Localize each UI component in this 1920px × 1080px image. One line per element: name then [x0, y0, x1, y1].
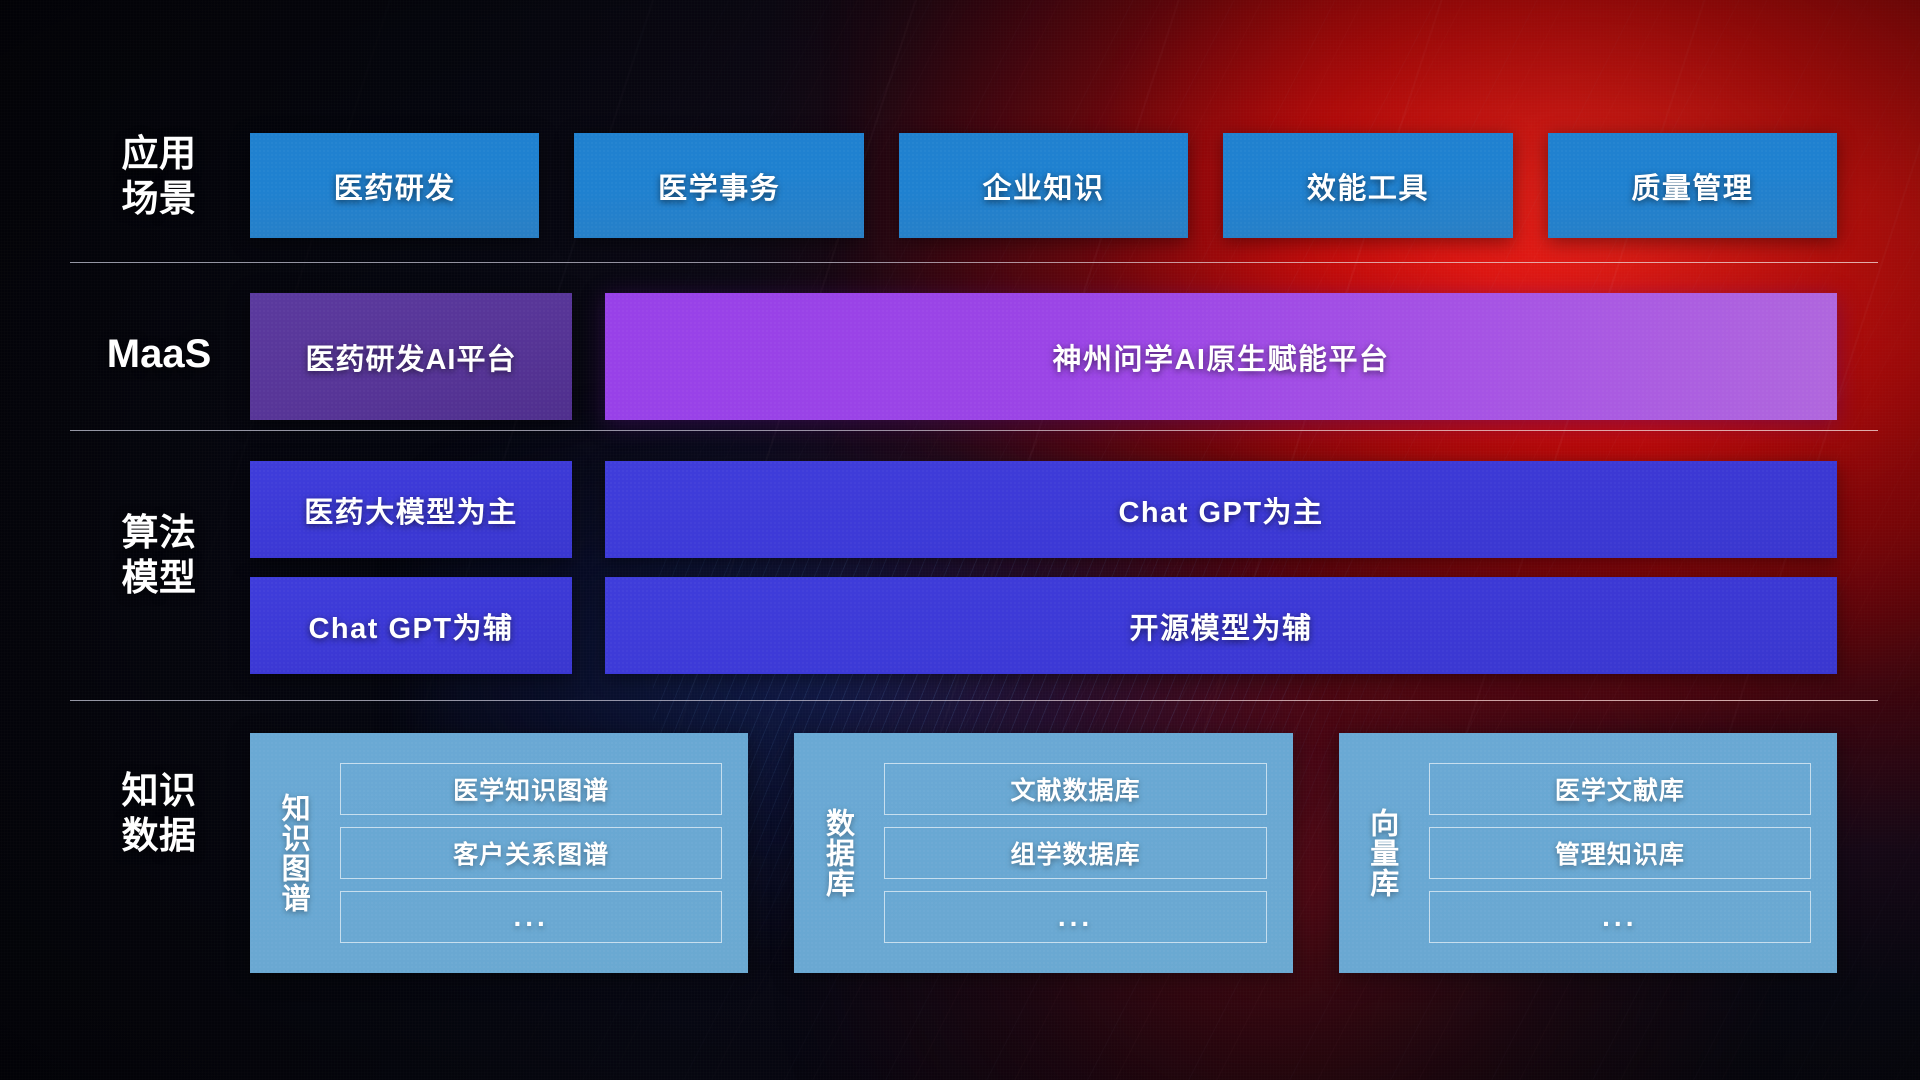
knowledge-card-knowledge-graph[interactable]: 知识图谱 医学知识图谱 客户关系图谱 ... [250, 733, 748, 973]
knowledge-item-more[interactable]: ... [884, 891, 1266, 943]
knowledge-card-category: 向量库 [1339, 733, 1425, 973]
knowledge-item[interactable]: 文献数据库 [884, 763, 1266, 815]
knowledge-item[interactable]: 组学数据库 [884, 827, 1266, 879]
knowledge-card-vector-store[interactable]: 向量库 医学文献库 管理知识库 ... [1339, 733, 1837, 973]
scenario-label: 企业知识 [983, 165, 1105, 207]
algorithm-track-secondary: Chat GPT为辅 开源模型为辅 [250, 577, 1837, 674]
knowledge-item-more[interactable]: ... [340, 891, 722, 943]
row-label-knowledge-data: 知识 数据 [70, 768, 248, 858]
algorithm-label: 开源模型为辅 [1129, 605, 1312, 647]
knowledge-item[interactable]: 管理知识库 [1429, 827, 1811, 879]
algorithm-label: 医药大模型为主 [304, 489, 518, 531]
row-label-line: 知识 [70, 768, 248, 813]
maas-card-shenzhou-wenxue-platform[interactable]: 神州问学AI原生赋能平台 [605, 293, 1837, 420]
algorithm-label: Chat GPT为主 [1118, 489, 1323, 531]
row-label-line: MaaS [70, 330, 248, 379]
scenario-card-medical-affairs[interactable]: 医学事务 [574, 133, 863, 238]
knowledge-card-category: 知识图谱 [250, 733, 336, 973]
algorithm-card-chatgpt-secondary[interactable]: Chat GPT为辅 [250, 577, 572, 674]
knowledge-item-list: 文献数据库 组学数据库 ... [880, 733, 1292, 973]
maas-label: 医药研发AI平台 [305, 336, 516, 378]
algorithm-track-primary: 医药大模型为主 Chat GPT为主 [250, 461, 1837, 558]
row-separator-2 [70, 430, 1878, 431]
row-label-algorithm-models: 算法 模型 [70, 510, 248, 600]
row-label-line: 场景 [70, 176, 248, 221]
row-label-line: 数据 [70, 813, 248, 858]
algorithm-card-opensource-secondary[interactable]: 开源模型为辅 [605, 577, 1837, 674]
scenario-card-medicine-rd[interactable]: 医药研发 [250, 133, 539, 238]
row-separator-3 [70, 700, 1878, 701]
algorithm-label: Chat GPT为辅 [308, 605, 513, 647]
row-separator-1 [70, 262, 1878, 263]
row-label-line: 应用 [70, 131, 248, 176]
knowledge-track: 知识图谱 医学知识图谱 客户关系图谱 ... 数据库 文献数据库 组学数据库 .… [250, 733, 1837, 973]
scenario-card-quality-management[interactable]: 质量管理 [1548, 133, 1837, 238]
maas-label: 神州问学AI原生赋能平台 [1052, 336, 1389, 378]
knowledge-item[interactable]: 客户关系图谱 [340, 827, 722, 879]
knowledge-item-list: 医学知识图谱 客户关系图谱 ... [336, 733, 748, 973]
maas-card-pharma-ai-platform[interactable]: 医药研发AI平台 [250, 293, 572, 420]
knowledge-card-category: 数据库 [794, 733, 880, 973]
knowledge-item[interactable]: 医学文献库 [1429, 763, 1811, 815]
row-label-maas: MaaS [70, 330, 248, 379]
maas-track: 医药研发AI平台 神州问学AI原生赋能平台 [250, 293, 1837, 420]
scenario-track: 医药研发 医学事务 企业知识 效能工具 质量管理 [250, 133, 1837, 238]
scenario-label: 质量管理 [1631, 165, 1753, 207]
scenario-card-efficiency-tools[interactable]: 效能工具 [1223, 133, 1512, 238]
knowledge-item-more[interactable]: ... [1429, 891, 1811, 943]
row-label-line: 模型 [70, 555, 248, 600]
row-label-application-scenarios: 应用 场景 [70, 131, 248, 221]
algorithm-card-pharma-llm-primary[interactable]: 医药大模型为主 [250, 461, 572, 558]
scenario-label: 医药研发 [334, 165, 456, 207]
scenario-card-enterprise-knowledge[interactable]: 企业知识 [899, 133, 1188, 238]
knowledge-card-database[interactable]: 数据库 文献数据库 组学数据库 ... [794, 733, 1292, 973]
knowledge-item[interactable]: 医学知识图谱 [340, 763, 722, 815]
scenario-label: 医学事务 [658, 165, 780, 207]
scenario-label: 效能工具 [1307, 165, 1429, 207]
knowledge-item-list: 医学文献库 管理知识库 ... [1425, 733, 1837, 973]
row-label-line: 算法 [70, 510, 248, 555]
diagram-canvas: 应用 场景 医药研发 医学事务 企业知识 效能工具 质量管理 MaaS 医药研发… [0, 0, 1920, 1080]
algorithm-card-chatgpt-primary[interactable]: Chat GPT为主 [605, 461, 1837, 558]
